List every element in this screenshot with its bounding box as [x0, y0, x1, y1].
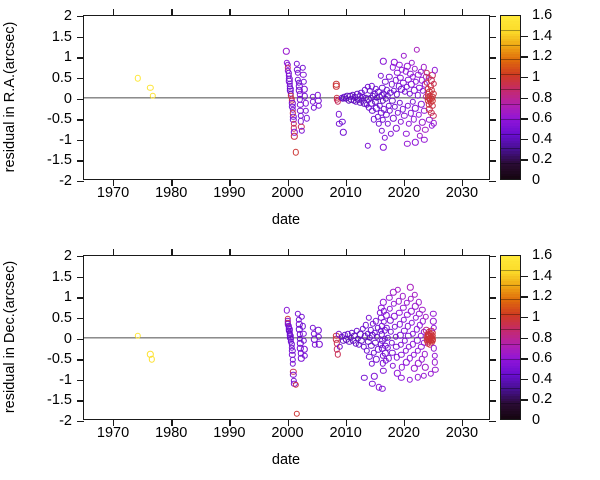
colorbar-tick-mark [521, 296, 528, 297]
x-axis-title-dec: date [272, 452, 300, 468]
data-point [431, 359, 437, 365]
colorbar-ticks-ra: 00.20.40.60.811.21.41.6 [500, 15, 521, 180]
y-tick-mark [489, 16, 496, 17]
data-point [373, 356, 379, 362]
data-point [427, 371, 433, 377]
colorbar-tick-label: 1.2 [532, 48, 552, 64]
data-point [369, 361, 375, 367]
y-tick-mark [489, 359, 496, 360]
y-tick-label: -1.5 [47, 392, 72, 408]
data-point [299, 323, 305, 329]
data-point [294, 410, 300, 416]
data-point [135, 333, 141, 339]
y-tick-label: -1 [59, 132, 72, 148]
data-point [414, 125, 420, 131]
y-tick-mark [77, 57, 84, 58]
y-tick-label: -1 [59, 372, 72, 388]
y-tick-mark [77, 99, 84, 100]
y-tick-mark [77, 78, 84, 79]
x-tick-label: 2010 [330, 425, 362, 441]
y-tick-mark [77, 339, 84, 340]
data-point [406, 377, 412, 383]
panel-residual-ra: residual in R.A.(arcsec) date -2-1.5-1-0… [0, 0, 600, 240]
data-point [413, 47, 419, 53]
data-point [378, 127, 384, 133]
data-point [302, 93, 308, 99]
y-tick-mark [489, 318, 496, 319]
y-tick-label: 2 [64, 248, 72, 264]
data-point [415, 374, 421, 380]
data-point [401, 52, 407, 58]
x-tick-label: 2020 [388, 425, 420, 441]
data-point [284, 307, 290, 313]
data-point [395, 287, 401, 293]
data-point [412, 105, 418, 111]
colorbar-tick-mark [521, 379, 528, 380]
colorbar-tick-mark [521, 98, 528, 99]
data-point [390, 115, 396, 121]
x-tick-label: 1990 [213, 185, 245, 201]
colorbar-tick-mark [521, 317, 528, 318]
data-point [361, 375, 367, 381]
data-point [428, 123, 434, 129]
data-point [418, 101, 424, 107]
data-point [316, 334, 322, 340]
x-tick-mark [171, 249, 172, 256]
y-tick-mark [77, 380, 84, 381]
data-point [431, 345, 437, 351]
data-point [300, 71, 306, 77]
y-tick-label: 1.5 [52, 29, 72, 45]
y-tick-mark [489, 297, 496, 298]
colorbar-tick-label: 0 [532, 412, 540, 428]
y-tick-mark [77, 318, 84, 319]
y-tick-mark [77, 421, 84, 422]
plot-area-ra: -2-1.5-1-0.500.511.521970198019902000201… [83, 15, 490, 180]
y-tick-mark [489, 339, 496, 340]
data-point [431, 80, 437, 86]
data-point [379, 386, 385, 392]
colorbar-tick-label: 0.6 [532, 110, 552, 126]
colorbar-tick-label: 1 [532, 69, 540, 85]
data-point [399, 293, 405, 299]
y-tick-label: 1 [64, 289, 72, 305]
data-point [398, 118, 404, 124]
y-tick-mark [489, 57, 496, 58]
data-point [301, 346, 307, 352]
colorbar-tick-mark [521, 358, 528, 359]
y-tick-label: 2 [64, 8, 72, 24]
y-tick-mark [77, 256, 84, 257]
x-tick-label: 2020 [388, 185, 420, 201]
y-tick-mark [489, 380, 496, 381]
data-point [422, 351, 428, 357]
x-tick-label: 1980 [155, 185, 187, 201]
x-tick-mark [346, 9, 347, 16]
data-point [337, 344, 343, 350]
y-tick-mark [77, 140, 84, 141]
data-point [380, 58, 386, 64]
data-point [403, 131, 409, 137]
data-point [398, 375, 404, 381]
data-point [302, 353, 308, 359]
x-tick-label: 2030 [446, 425, 478, 441]
colorbar-tick-mark [521, 118, 528, 119]
data-point [407, 284, 413, 290]
y-tick-mark [489, 400, 496, 401]
data-point [431, 353, 437, 359]
colorbar-tick-mark [521, 77, 528, 78]
data-point [430, 311, 436, 317]
colorbar-tick-label: 0.2 [532, 151, 552, 167]
data-point [377, 73, 383, 79]
x-tick-label: 2030 [446, 185, 478, 201]
colorbar-tick-mark [521, 139, 528, 140]
data-point [421, 137, 427, 143]
data-point [299, 127, 305, 133]
y-tick-label: 0.5 [52, 70, 72, 86]
data-point [412, 139, 418, 145]
data-point [431, 67, 437, 73]
data-point [303, 108, 309, 114]
data-point [420, 372, 426, 378]
data-point [316, 341, 322, 347]
data-point [335, 111, 341, 117]
x-tick-label: 1970 [97, 185, 129, 201]
data-point [299, 64, 305, 70]
data-point [290, 361, 296, 367]
data-point [419, 306, 425, 312]
y-tick-label: -1.5 [47, 152, 72, 168]
colorbar-tick-label: 0.2 [532, 391, 552, 407]
data-point [365, 142, 371, 148]
colorbar-tick-label: 0.6 [532, 350, 552, 366]
plot-area-dec: -2-1.5-1-0.500.511.521970198019902000201… [83, 255, 490, 420]
residual-figure: residual in R.A.(arcsec) date -2-1.5-1-0… [0, 0, 600, 480]
data-point [149, 356, 155, 362]
data-point [430, 337, 436, 343]
colorbar-ticks-dec: 00.20.40.60.811.21.41.6 [500, 255, 521, 420]
x-tick-mark [229, 249, 230, 256]
data-point [430, 97, 436, 103]
data-point [292, 149, 298, 155]
x-tick-label: 1990 [213, 425, 245, 441]
data-point [390, 363, 396, 369]
data-point [416, 299, 422, 305]
data-point [422, 364, 428, 370]
colorbar-tick-label: 0 [532, 172, 540, 188]
data-point [380, 144, 386, 150]
data-point [419, 119, 425, 125]
y-tick-label: 0 [64, 331, 72, 347]
data-point [292, 381, 298, 387]
data-point [340, 129, 346, 135]
y-tick-mark [489, 277, 496, 278]
data-point [409, 99, 415, 105]
y-axis-title-ra: residual in R.A.(arcsec) [2, 22, 18, 173]
colorbar-tick-label: 1.6 [532, 7, 552, 23]
x-tick-mark [113, 249, 114, 256]
x-tick-mark [346, 249, 347, 256]
y-tick-mark [77, 16, 84, 17]
y-tick-mark [77, 119, 84, 120]
data-point [315, 327, 321, 333]
x-tick-mark [404, 9, 405, 16]
x-tick-mark [113, 9, 114, 16]
x-axis-title-ra: date [272, 212, 300, 228]
x-tick-mark [462, 249, 463, 256]
data-point [301, 79, 307, 85]
data-point [299, 314, 305, 320]
data-point [393, 125, 399, 131]
y-tick-mark [489, 99, 496, 100]
y-tick-mark [489, 160, 496, 161]
colorbar-tick-label: 1.2 [532, 288, 552, 304]
data-point [430, 90, 436, 96]
y-tick-label: -2 [59, 413, 72, 429]
y-tick-mark [489, 119, 496, 120]
data-point [385, 355, 391, 361]
colorbar-tick-mark [521, 159, 528, 160]
data-point [423, 314, 429, 320]
y-tick-label: -2 [59, 173, 72, 189]
colorbar-tick-label: 1.6 [532, 247, 552, 263]
data-point [333, 83, 339, 89]
data-point [339, 118, 345, 124]
y-tick-mark [489, 37, 496, 38]
y-tick-mark [77, 181, 84, 182]
data-point [303, 115, 309, 121]
y-tick-mark [77, 160, 84, 161]
colorbar-tick-label: 0.4 [532, 131, 552, 147]
data-point [149, 92, 155, 98]
data-point [381, 135, 387, 141]
y-tick-label: -0.5 [47, 111, 72, 127]
colorbar-tick-label: 1 [532, 309, 540, 325]
y-tick-label: -0.5 [47, 351, 72, 367]
data-point [316, 103, 322, 109]
data-point [334, 351, 340, 357]
x-tick-mark [171, 9, 172, 16]
y-tick-mark [489, 181, 496, 182]
panel-residual-dec: residual in Dec.(arcsec) date -2-1.5-1-0… [0, 240, 600, 480]
data-point [300, 330, 306, 336]
y-tick-mark [489, 78, 496, 79]
x-tick-mark [462, 9, 463, 16]
x-tick-mark [229, 9, 230, 16]
data-point [429, 103, 435, 109]
data-point [388, 131, 394, 137]
x-tick-label: 2000 [271, 185, 303, 201]
y-tick-mark [77, 37, 84, 38]
data-point [394, 91, 400, 97]
data-point [397, 99, 403, 105]
y-tick-label: 1 [64, 49, 72, 65]
y-tick-mark [489, 140, 496, 141]
colorbar-tick-mark [521, 276, 528, 277]
colorbar-tick-mark [521, 36, 528, 37]
x-tick-label: 2000 [271, 425, 303, 441]
colorbar-tick-label: 0.8 [532, 90, 552, 106]
data-point [430, 318, 436, 324]
data-point [406, 121, 412, 127]
scatter-points-dec [84, 256, 489, 419]
data-point [301, 338, 307, 344]
data-point [431, 325, 437, 331]
colorbar-tick-label: 0.4 [532, 371, 552, 387]
data-point [384, 121, 390, 127]
y-tick-mark [77, 297, 84, 298]
y-axis-title-dec: residual in Dec.(arcsec) [2, 261, 18, 413]
scatter-points-ra [84, 16, 489, 179]
data-point [147, 85, 153, 91]
x-tick-mark [288, 9, 289, 16]
y-tick-mark [489, 256, 496, 257]
colorbar-tick-mark [521, 399, 528, 400]
data-point [422, 127, 428, 133]
y-tick-label: 0 [64, 91, 72, 107]
colorbar-tick-label: 0.8 [532, 330, 552, 346]
x-tick-label: 2010 [330, 185, 362, 201]
y-tick-mark [77, 359, 84, 360]
data-point [302, 100, 308, 106]
data-point [380, 367, 386, 373]
colorbar-tick-mark [521, 56, 528, 57]
data-point [371, 373, 377, 379]
colorbar-tick-mark [521, 338, 528, 339]
data-point [291, 133, 297, 139]
y-tick-label: 0.5 [52, 310, 72, 326]
data-point [301, 86, 307, 92]
y-tick-mark [489, 421, 496, 422]
data-point [380, 299, 386, 305]
colorbar-tick-label: 1.4 [532, 28, 552, 44]
data-point [412, 292, 418, 298]
y-tick-mark [77, 400, 84, 401]
y-tick-label: 1.5 [52, 269, 72, 285]
y-tick-mark [77, 277, 84, 278]
data-point [135, 75, 141, 81]
data-point [404, 141, 410, 147]
x-tick-label: 1970 [97, 425, 129, 441]
x-tick-mark [404, 249, 405, 256]
colorbar-tick-label: 1.4 [532, 268, 552, 284]
data-point [283, 48, 289, 54]
x-tick-label: 1980 [155, 425, 187, 441]
x-tick-mark [288, 249, 289, 256]
